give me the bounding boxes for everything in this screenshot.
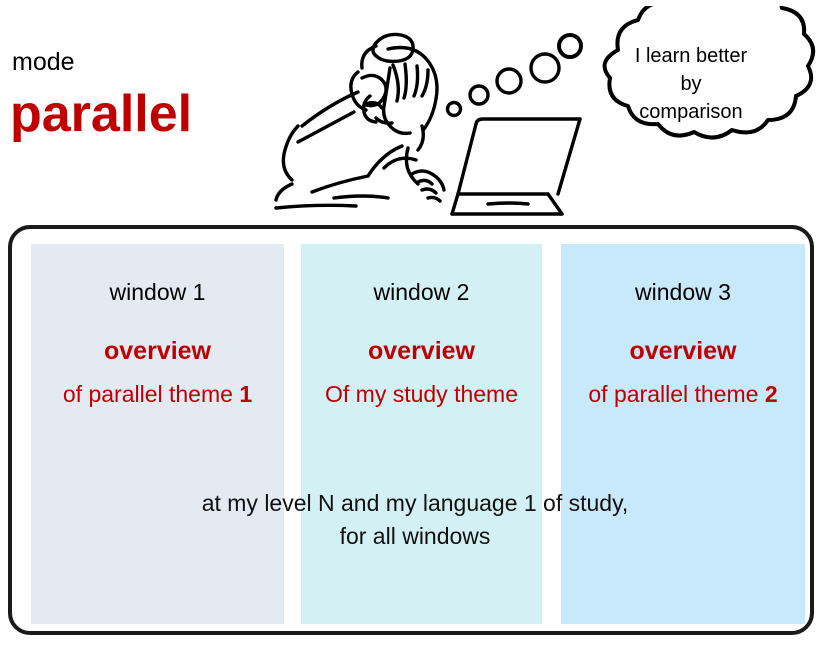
window-2-subtitle-text: Of my study bbox=[325, 381, 448, 407]
window-3-subtitle-text: of parallel theme bbox=[588, 381, 758, 407]
thought-bubble-line-1: I learn better bbox=[598, 42, 784, 70]
window-2-subtitle-emph: theme bbox=[454, 381, 518, 407]
window-2-subtitle: Of my study theme bbox=[301, 379, 542, 409]
window-2-title: window 2 bbox=[301, 278, 542, 306]
window-1-title: window 1 bbox=[31, 278, 284, 306]
window-3-overview: overview bbox=[561, 336, 805, 366]
windows-container: window 1 overview of parallel theme 1 wi… bbox=[8, 225, 814, 635]
thought-bubble-text: I learn better by comparison bbox=[598, 42, 784, 126]
window-1-overview: overview bbox=[31, 336, 284, 366]
student-at-laptop-illustration bbox=[262, 8, 582, 222]
thought-bubble-line-3: comparison bbox=[598, 98, 784, 126]
thought-bubble-dot bbox=[559, 35, 581, 57]
window-3-title: window 3 bbox=[561, 278, 805, 306]
mode-label: mode bbox=[12, 47, 75, 77]
thought-bubble-line-2: by bbox=[598, 70, 784, 98]
window-panel-1[interactable]: window 1 overview of parallel theme 1 bbox=[31, 244, 284, 624]
mode-value: parallel bbox=[10, 84, 192, 144]
window-1-subtitle-text: of parallel theme bbox=[63, 381, 233, 407]
window-2-overview: overview bbox=[301, 336, 542, 366]
window-1-subtitle-emph: 1 bbox=[239, 381, 252, 407]
window-1-subtitle: of parallel theme 1 bbox=[31, 379, 284, 409]
thought-bubble: I learn better by comparison bbox=[556, 6, 824, 171]
window-3-subtitle: of parallel theme 2 bbox=[561, 379, 805, 409]
window-panel-2[interactable]: window 2 overview Of my study theme bbox=[301, 244, 542, 624]
student-at-laptop-icon bbox=[262, 8, 582, 222]
window-panel-3[interactable]: window 3 overview of parallel theme 2 bbox=[561, 244, 805, 624]
window-3-subtitle-emph: 2 bbox=[765, 381, 778, 407]
header-area: mode parallel bbox=[0, 0, 828, 222]
